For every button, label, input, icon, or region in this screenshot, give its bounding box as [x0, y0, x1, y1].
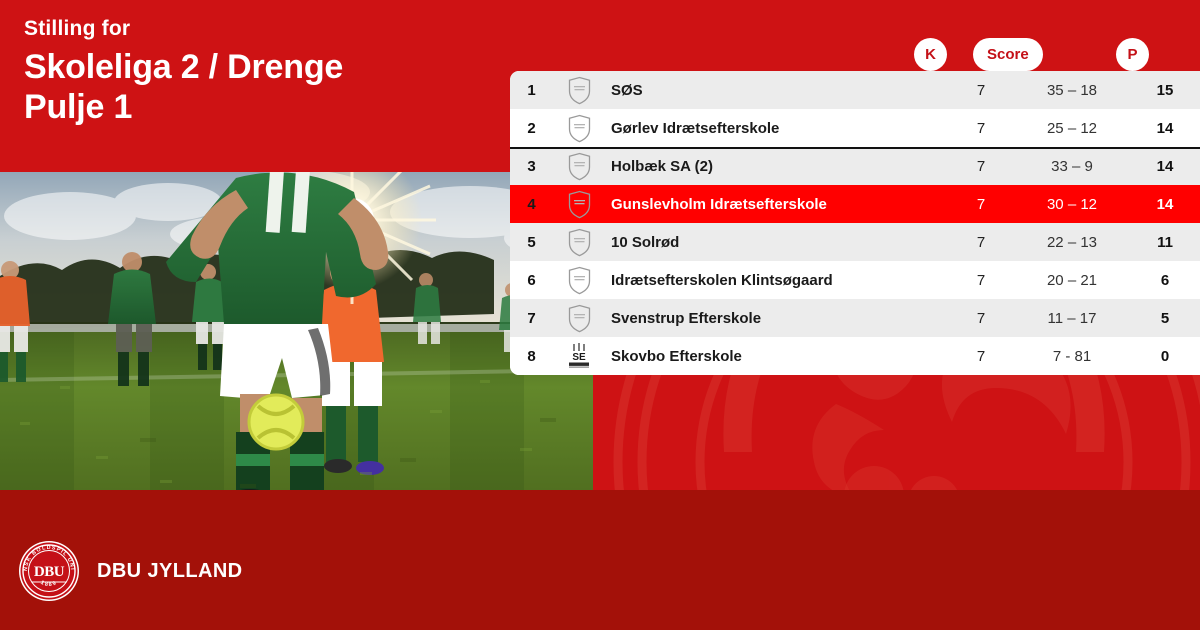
shield-icon	[553, 304, 605, 333]
page-title-line1: Skoleliga 2 / Drenge	[24, 48, 494, 87]
row-points: 14	[1130, 196, 1200, 213]
row-rank: 5	[510, 234, 553, 251]
table-row[interactable]: 8 SE Skovbo Efterskole77 - 810	[510, 337, 1200, 375]
footer: DANSK BOLDSPIL UNION 1889 DBU DBU JYLLAN…	[18, 540, 243, 602]
poster-header: Stilling for Skoleliga 2 / Drenge Pulje …	[24, 16, 494, 127]
row-points: 0	[1130, 348, 1200, 365]
row-score: 20 – 21	[1014, 272, 1130, 289]
row-rank: 2	[510, 120, 553, 137]
row-team-name[interactable]: Idrætsefterskolen Klintsøgaard	[605, 272, 948, 289]
shield-icon	[553, 266, 605, 295]
row-team-name[interactable]: Gunslevholm Idrætsefterskole	[605, 196, 948, 213]
row-matches-played: 7	[948, 82, 1014, 99]
row-matches-played: 7	[948, 272, 1014, 289]
row-rank: 8	[510, 348, 553, 365]
row-score: 22 – 13	[1014, 234, 1130, 251]
row-points: 15	[1130, 82, 1200, 99]
row-team-name[interactable]: Gørlev Idrætsefterskole	[605, 120, 948, 137]
svg-text:SE: SE	[572, 352, 586, 363]
row-points: 14	[1130, 158, 1200, 175]
column-badge-points: P	[1116, 38, 1149, 71]
row-rank: 6	[510, 272, 553, 289]
row-score: 35 – 18	[1014, 82, 1130, 99]
row-matches-played: 7	[948, 120, 1014, 137]
shield-icon	[553, 76, 605, 105]
row-points: 6	[1130, 272, 1200, 289]
column-badge-matches: K	[914, 38, 947, 71]
poster-canvas: D B U Stilling for Skoleliga 2 / Drenge …	[0, 0, 1200, 630]
table-row[interactable]: 5 10 Solrød722 – 1311	[510, 223, 1200, 261]
row-score: 33 – 9	[1014, 158, 1130, 175]
row-score: 7 - 81	[1014, 348, 1130, 365]
row-team-name[interactable]: SØS	[605, 82, 948, 99]
shield-icon	[553, 114, 605, 143]
row-rank: 3	[510, 158, 553, 175]
table-row[interactable]: 4 Gunslevholm Idrætsefterskole730 – 1214	[510, 185, 1200, 223]
row-matches-played: 7	[948, 234, 1014, 251]
row-team-name[interactable]: Holbæk SA (2)	[605, 158, 948, 175]
row-points: 14	[1130, 120, 1200, 137]
row-matches-played: 7	[948, 348, 1014, 365]
standings-table: 1 SØS735 – 18152 Gørlev Idrætsefterskole…	[510, 71, 1200, 375]
table-column-badges: K Score P	[510, 38, 1200, 71]
se-logo-icon: SE	[553, 343, 605, 369]
row-rank: 4	[510, 196, 553, 213]
row-matches-played: 7	[948, 158, 1014, 175]
page-title-line2: Pulje 1	[24, 88, 494, 127]
table-row[interactable]: 2 Gørlev Idrætsefterskole725 – 1214	[510, 109, 1200, 147]
row-matches-played: 7	[948, 310, 1014, 327]
shield-icon	[553, 152, 605, 181]
column-badge-score: Score	[973, 38, 1043, 71]
row-rank: 1	[510, 82, 553, 99]
dbu-seal-logo: DANSK BOLDSPIL UNION 1889 DBU	[18, 540, 80, 602]
table-row[interactable]: 1 SØS735 – 1815	[510, 71, 1200, 109]
table-row[interactable]: 7 Svenstrup Efterskole711 – 175	[510, 299, 1200, 337]
footer-label: DBU JYLLAND	[97, 560, 243, 583]
row-points: 11	[1130, 234, 1200, 251]
shield-icon	[553, 190, 605, 219]
shield-icon	[553, 228, 605, 257]
svg-text:DBU: DBU	[34, 564, 65, 580]
table-row[interactable]: 6 Idrætsefterskolen Klintsøgaard720 – 21…	[510, 261, 1200, 299]
page-title: Skoleliga 2 / Drenge Pulje 1	[24, 48, 494, 127]
row-matches-played: 7	[948, 196, 1014, 213]
football-match-photo	[0, 172, 593, 490]
row-team-name[interactable]: 10 Solrød	[605, 234, 948, 251]
header-kicker: Stilling for	[24, 16, 494, 41]
table-row[interactable]: 3 Holbæk SA (2)733 – 914	[510, 147, 1200, 185]
row-rank: 7	[510, 310, 553, 327]
row-score: 30 – 12	[1014, 196, 1130, 213]
row-score: 25 – 12	[1014, 120, 1130, 137]
row-score: 11 – 17	[1014, 310, 1130, 327]
row-points: 5	[1130, 310, 1200, 327]
row-team-name[interactable]: Svenstrup Efterskole	[605, 310, 948, 327]
row-team-name[interactable]: Skovbo Efterskole	[605, 348, 948, 365]
